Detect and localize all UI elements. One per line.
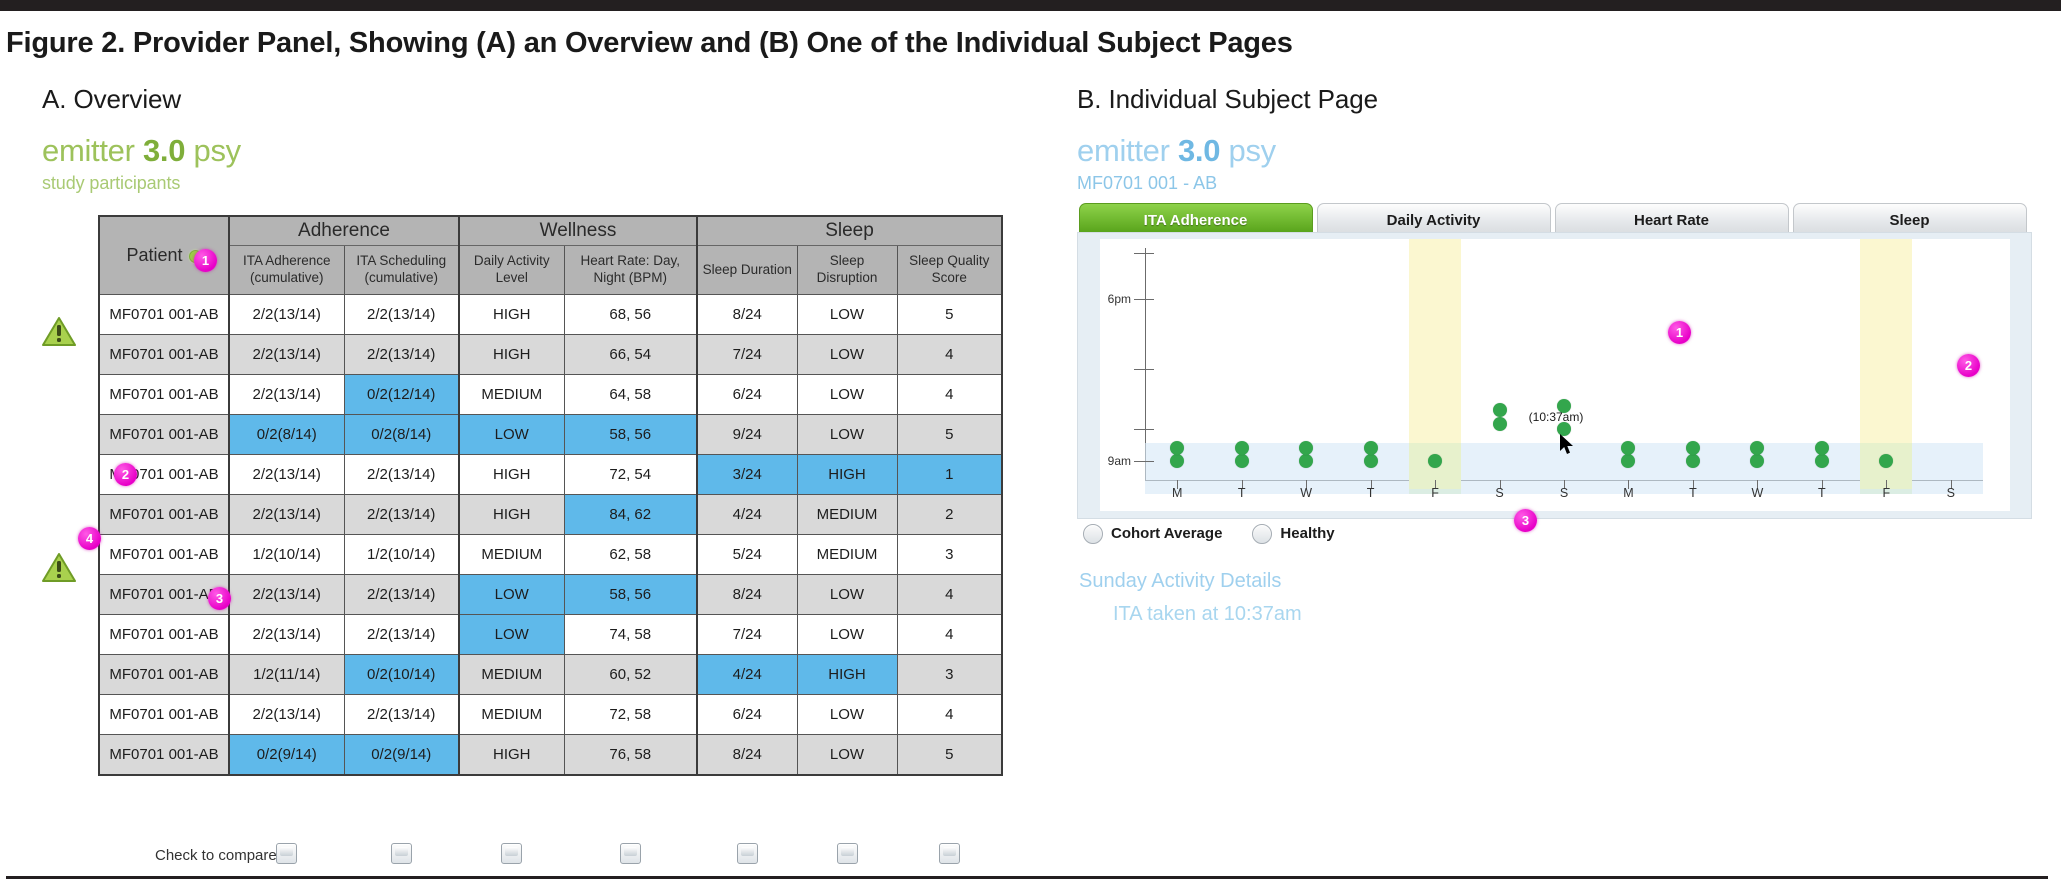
chart-legend: Cohort AverageHealthy: [1083, 524, 1365, 550]
cell-3: 60, 52: [564, 655, 697, 695]
x-tick-label: T: [1367, 486, 1375, 500]
cell-0: 0/2(8/14): [229, 415, 344, 455]
x-tick-label: M: [1623, 486, 1633, 500]
data-point[interactable]: [1299, 441, 1313, 455]
cell-4: 6/24: [697, 695, 797, 735]
cell-2: MEDIUM: [459, 655, 564, 695]
bottom-rule: [6, 876, 2048, 879]
data-point[interactable]: [1750, 454, 1764, 468]
cell-2: MEDIUM: [459, 375, 564, 415]
data-point[interactable]: [1493, 417, 1507, 431]
group-header-wellness: Wellness: [459, 216, 697, 246]
x-tick-label: S: [1947, 486, 1955, 500]
compare-row: Check to compare:: [98, 841, 1038, 875]
cell-4: 8/24: [697, 575, 797, 615]
col-header-2: Daily Activity Level: [459, 246, 564, 295]
details-title: Sunday Activity Details: [1079, 570, 1281, 592]
cell-1: 0/2(8/14): [344, 415, 459, 455]
cell-1: 2/2(13/14): [344, 575, 459, 615]
data-point[interactable]: [1815, 454, 1829, 468]
cell-4: 4/24: [697, 655, 797, 695]
x-tick-label: T: [1818, 486, 1826, 500]
cell-0: 2/2(13/14): [229, 495, 344, 535]
chart-canvas: 6pm9amMTWTFSSMTWTFS(10:37am): [1100, 239, 2010, 511]
data-point[interactable]: [1364, 454, 1378, 468]
col-header-3: Heart Rate: Day, Night (BPM): [564, 246, 697, 295]
cell-1: 0/2(10/14): [344, 655, 459, 695]
mouse-cursor-icon: [1560, 434, 1576, 456]
brand-word1: emitter: [42, 133, 135, 168]
col-header-5: Sleep Disruption: [797, 246, 897, 295]
compare-checkbox-3[interactable]: [620, 843, 641, 864]
data-point[interactable]: [1170, 454, 1184, 468]
compare-checkbox-5[interactable]: [837, 843, 858, 864]
data-point[interactable]: [1299, 454, 1313, 468]
x-tick-label: T: [1689, 486, 1697, 500]
cell-6: 5: [897, 415, 1002, 455]
cell-2: HIGH: [459, 735, 564, 776]
table-row[interactable]: MF0701 001-AB2/2(13/14)2/2(13/14)HIGH84,…: [99, 495, 1002, 535]
cell-5: LOW: [797, 615, 897, 655]
panel-b-label: B. Individual Subject Page: [1077, 84, 2047, 115]
panel-b-brand: emitter 3.0 psy: [1077, 133, 2047, 169]
cell-patient: MF0701 001-AB: [99, 735, 229, 776]
radio-icon[interactable]: [1083, 524, 1103, 544]
cell-2: LOW: [459, 615, 564, 655]
cell-3: 62, 58: [564, 535, 697, 575]
cell-patient: MF0701 001-AB: [99, 695, 229, 735]
cell-5: LOW: [797, 575, 897, 615]
panel-b-subject: B. Individual Subject Page emitter 3.0 p…: [1077, 84, 2047, 844]
col-header-4: Sleep Duration: [697, 246, 797, 295]
table-row[interactable]: MF0701 001-AB2/2(13/14)2/2(13/14)MEDIUM7…: [99, 695, 1002, 735]
brand-subtitle: study participants: [42, 173, 1062, 194]
table-row[interactable]: MF0701 001-AB2/2(13/14)2/2(13/14)HIGH72,…: [99, 455, 1002, 495]
cell-5: LOW: [797, 735, 897, 776]
cell-5: LOW: [797, 335, 897, 375]
cell-3: 68, 56: [564, 295, 697, 335]
data-point[interactable]: [1235, 441, 1249, 455]
legend-option-cohort-average[interactable]: Cohort Average: [1083, 524, 1222, 544]
cell-4: 3/24: [697, 455, 797, 495]
cell-patient: MF0701 001-AB: [99, 535, 229, 575]
brand-b-version: 3.0: [1178, 133, 1220, 168]
y-tick: [1134, 369, 1154, 370]
cell-3: 84, 62: [564, 495, 697, 535]
cell-2: HIGH: [459, 295, 564, 335]
data-point[interactable]: [1170, 441, 1184, 455]
data-point[interactable]: [1621, 441, 1635, 455]
group-header-adherence: Adherence: [229, 216, 459, 246]
cell-1: 2/2(13/14): [344, 335, 459, 375]
table-row[interactable]: MF0701 001-AB2/2(13/14)2/2(13/14)HIGH66,…: [99, 335, 1002, 375]
x-tick-label: F: [1431, 486, 1439, 500]
data-point[interactable]: [1621, 454, 1635, 468]
cell-4: 4/24: [697, 495, 797, 535]
data-point[interactable]: [1235, 454, 1249, 468]
cell-0: 2/2(13/14): [229, 335, 344, 375]
compare-checkbox-0[interactable]: [276, 843, 297, 864]
cell-5: LOW: [797, 295, 897, 335]
cell-2: LOW: [459, 575, 564, 615]
cell-2: HIGH: [459, 455, 564, 495]
brand-version: 3.0: [143, 133, 185, 168]
cell-1: 2/2(13/14): [344, 615, 459, 655]
cell-4: 7/24: [697, 615, 797, 655]
cell-4: 8/24: [697, 295, 797, 335]
cell-1: 2/2(13/14): [344, 295, 459, 335]
cell-2: MEDIUM: [459, 695, 564, 735]
x-tick-label: F: [1882, 486, 1890, 500]
callout-marker-1: 1: [1668, 321, 1691, 344]
cell-6: 4: [897, 575, 1002, 615]
data-point[interactable]: [1428, 454, 1442, 468]
col-header-1: ITA Scheduling (cumulative): [344, 246, 459, 295]
table-row[interactable]: MF0701 001-AB1/2(10/14)1/2(10/14)MEDIUM6…: [99, 535, 1002, 575]
cell-patient: MF0701 001-AB: [99, 375, 229, 415]
callout-marker-3: 3: [1514, 509, 1537, 532]
panel-a-overview: A. Overview emitter 3.0 psy study partic…: [42, 84, 1062, 824]
cell-1: 2/2(13/14): [344, 695, 459, 735]
cell-1: 0/2(9/14): [344, 735, 459, 776]
participants-table: PatientAdherenceWellnessSleepITA Adheren…: [98, 215, 1003, 776]
legend-option-healthy[interactable]: Healthy: [1252, 524, 1334, 544]
cell-patient: MF0701 001-AB: [99, 335, 229, 375]
figure-caption: Figure 2. Provider Panel, Showing (A) an…: [6, 27, 1606, 60]
cell-5: HIGH: [797, 455, 897, 495]
cell-0: 1/2(11/14): [229, 655, 344, 695]
y-tick-label: 9am: [1108, 454, 1131, 468]
activity-details: Sunday Activity Details ITA taken at 10:…: [1079, 570, 1302, 626]
data-point[interactable]: [1750, 441, 1764, 455]
patient-header-label: Patient: [126, 245, 182, 265]
cell-0: 2/2(13/14): [229, 575, 344, 615]
data-point[interactable]: [1686, 441, 1700, 455]
cell-4: 8/24: [697, 735, 797, 776]
y-tick: [1134, 299, 1154, 300]
cell-1: 2/2(13/14): [344, 455, 459, 495]
cell-5: LOW: [797, 375, 897, 415]
cell-6: 3: [897, 655, 1002, 695]
cell-0: 1/2(10/14): [229, 535, 344, 575]
col-header-0: ITA Adherence (cumulative): [229, 246, 344, 295]
cell-6: 5: [897, 295, 1002, 335]
cell-4: 6/24: [697, 375, 797, 415]
callout-marker-3: 3: [208, 587, 231, 610]
warning-triangle-icon: [42, 316, 76, 347]
data-point[interactable]: [1815, 441, 1829, 455]
data-point[interactable]: [1686, 454, 1700, 468]
cell-5: MEDIUM: [797, 495, 897, 535]
cell-6: 4: [897, 335, 1002, 375]
cell-4: 7/24: [697, 335, 797, 375]
panel-a-label: A. Overview: [42, 84, 1062, 115]
y-tick-label: 6pm: [1108, 292, 1131, 306]
y-tick: [1134, 429, 1154, 430]
subject-id: MF0701 001 - AB: [1077, 173, 2047, 194]
cell-3: 74, 58: [564, 615, 697, 655]
legend-label: Healthy: [1280, 525, 1334, 542]
brand-b-word1: emitter: [1077, 133, 1170, 168]
table-row[interactable]: MF0701 001-AB2/2(13/14)2/2(13/14)LOW74, …: [99, 615, 1002, 655]
top-rule: [0, 0, 2061, 11]
cell-6: 4: [897, 695, 1002, 735]
group-header-sleep: Sleep: [697, 216, 1002, 246]
x-tick-label: W: [1751, 486, 1763, 500]
cell-3: 58, 56: [564, 415, 697, 455]
data-point[interactable]: [1879, 454, 1893, 468]
x-tick-label: T: [1238, 486, 1246, 500]
cell-5: LOW: [797, 415, 897, 455]
x-tick-label: S: [1495, 486, 1503, 500]
cell-5: HIGH: [797, 655, 897, 695]
data-point[interactable]: [1364, 441, 1378, 455]
compare-checkbox-6[interactable]: [939, 843, 960, 864]
callout-marker-2: 2: [1957, 354, 1980, 377]
brand-word2: psy: [194, 133, 241, 168]
cell-3: 66, 54: [564, 335, 697, 375]
brand-b-word2: psy: [1229, 133, 1276, 168]
cell-patient: MF0701 001-AB: [99, 655, 229, 695]
callout-marker-2: 2: [114, 463, 137, 486]
x-tick-label: W: [1300, 486, 1312, 500]
chart-panel: 6pm9amMTWTFSSMTWTFS(10:37am): [1077, 232, 2032, 519]
cell-0: 2/2(13/14): [229, 455, 344, 495]
ita-adherence-scatter: 6pm9amMTWTFSSMTWTFS(10:37am): [1145, 248, 1983, 480]
cell-2: HIGH: [459, 335, 564, 375]
cell-5: MEDIUM: [797, 535, 897, 575]
cell-1: 2/2(13/14): [344, 495, 459, 535]
cell-6: 4: [897, 615, 1002, 655]
cell-3: 64, 58: [564, 375, 697, 415]
cell-patient: MF0701 001-AB: [99, 295, 229, 335]
y-tick: [1134, 253, 1154, 254]
cell-0: 2/2(13/14): [229, 615, 344, 655]
x-tick-label: M: [1172, 486, 1182, 500]
cell-6: 5: [897, 735, 1002, 776]
cell-6: 1: [897, 455, 1002, 495]
y-tick: [1134, 461, 1154, 462]
cell-6: 4: [897, 375, 1002, 415]
cell-3: 76, 58: [564, 735, 697, 776]
compare-checkbox-4[interactable]: [737, 843, 758, 864]
callout-marker-1: 1: [194, 249, 217, 272]
x-tick-label: S: [1560, 486, 1568, 500]
table-row[interactable]: MF0701 001-AB2/2(13/14)2/2(13/14)LOW58, …: [99, 575, 1002, 615]
cell-5: LOW: [797, 695, 897, 735]
cell-0: 2/2(13/14): [229, 295, 344, 335]
table-row[interactable]: MF0701 001-AB0/2(8/14)0/2(8/14)LOW58, 56…: [99, 415, 1002, 455]
radio-icon[interactable]: [1252, 524, 1272, 544]
cell-3: 72, 58: [564, 695, 697, 735]
compare-label: Check to compare:: [155, 847, 281, 864]
cell-patient: MF0701 001-AB: [99, 415, 229, 455]
compare-checkbox-1[interactable]: [391, 843, 412, 864]
panel-a-brand: emitter 3.0 psy study participants: [42, 133, 1062, 194]
table-row[interactable]: MF0701 001-AB0/2(9/14)0/2(9/14)HIGH76, 5…: [99, 735, 1002, 776]
callout-marker-4: 4: [78, 527, 101, 550]
compare-checkbox-2[interactable]: [501, 843, 522, 864]
cell-patient: MF0701 001-AB: [99, 615, 229, 655]
table-row[interactable]: MF0701 001-AB2/2(13/14)0/2(12/14)MEDIUM6…: [99, 375, 1002, 415]
details-line: ITA taken at 10:37am: [1113, 603, 1302, 626]
cell-0: 2/2(13/14): [229, 375, 344, 415]
cell-4: 5/24: [697, 535, 797, 575]
cell-1: 1/2(10/14): [344, 535, 459, 575]
cell-2: HIGH: [459, 495, 564, 535]
cell-patient: MF0701 001-AB: [99, 495, 229, 535]
cell-2: LOW: [459, 415, 564, 455]
cell-0: 0/2(9/14): [229, 735, 344, 776]
legend-label: Cohort Average: [1111, 525, 1222, 542]
point-tooltip: (10:37am): [1529, 410, 1584, 424]
cell-6: 2: [897, 495, 1002, 535]
cell-6: 3: [897, 535, 1002, 575]
cell-3: 58, 56: [564, 575, 697, 615]
cell-3: 72, 54: [564, 455, 697, 495]
table-row[interactable]: MF0701 001-AB1/2(11/14)0/2(10/14)MEDIUM6…: [99, 655, 1002, 695]
warning-triangle-icon: [42, 552, 76, 583]
data-point[interactable]: [1493, 403, 1507, 417]
cell-2: MEDIUM: [459, 535, 564, 575]
col-header-6: Sleep Quality Score: [897, 246, 1002, 295]
cell-1: 0/2(12/14): [344, 375, 459, 415]
cell-4: 9/24: [697, 415, 797, 455]
table-row[interactable]: MF0701 001-AB2/2(13/14)2/2(13/14)HIGH68,…: [99, 295, 1002, 335]
cell-0: 2/2(13/14): [229, 695, 344, 735]
